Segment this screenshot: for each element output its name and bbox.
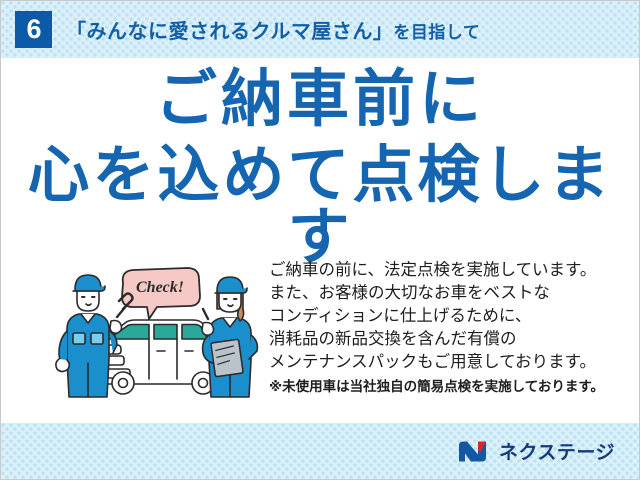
brand-logo: ネクステージ [456, 438, 615, 465]
body-line: メンテナンスパックもご用意しております。 [269, 351, 625, 374]
mechanics-illustration-svg: Check! [53, 259, 269, 399]
body-footnote: ※未使用車は当社独自の簡易点検を実施しております。 [269, 377, 625, 397]
body-copy: ご納車の前に、法定点検を実施しています。 また、お客様の大切なお車をベストな コ… [269, 259, 625, 397]
body-line: コンディションに仕上げるために、 [269, 305, 625, 328]
mechanics-illustration: Check! [53, 259, 269, 399]
advertisement-page: 6 「みんなに愛されるクルマ屋さん」 を目指して ご納車前に 心を込めて点検しま… [0, 0, 640, 480]
nextage-n-mark-icon [456, 439, 490, 463]
header-title-suffix: を目指して [393, 18, 480, 43]
headline-line-1: ご納車前に [1, 63, 639, 131]
mechanic-female [202, 277, 257, 397]
speech-bubble-label: Check! [136, 279, 184, 296]
check-speech-bubble: Check! [122, 268, 200, 319]
header-title-main: 「みんなに愛されるクルマ屋さん」 [66, 15, 393, 44]
header-band: 6 「みんなに愛されるクルマ屋さん」 を目指して [1, 1, 639, 58]
body-line: 消耗品の新品交換を含んだ有償の [269, 328, 625, 351]
header-title: 「みんなに愛されるクルマ屋さん」 を目指して [66, 15, 480, 44]
body-line: また、お客様の大切なお車をベストな [269, 282, 625, 305]
headline: ご納車前に 心を込めて点検します [1, 63, 639, 269]
footer-band: ネクステージ [1, 423, 639, 479]
step-number-badge: 6 [15, 11, 52, 48]
brand-name: ネクステージ [499, 438, 615, 465]
header-inner: 6 「みんなに愛されるクルマ屋さん」 を目指して [1, 1, 639, 58]
body-line: ご納車の前に、法定点検を実施しています。 [269, 259, 625, 282]
headline-line-2: 心を込めて点検します [1, 145, 639, 269]
